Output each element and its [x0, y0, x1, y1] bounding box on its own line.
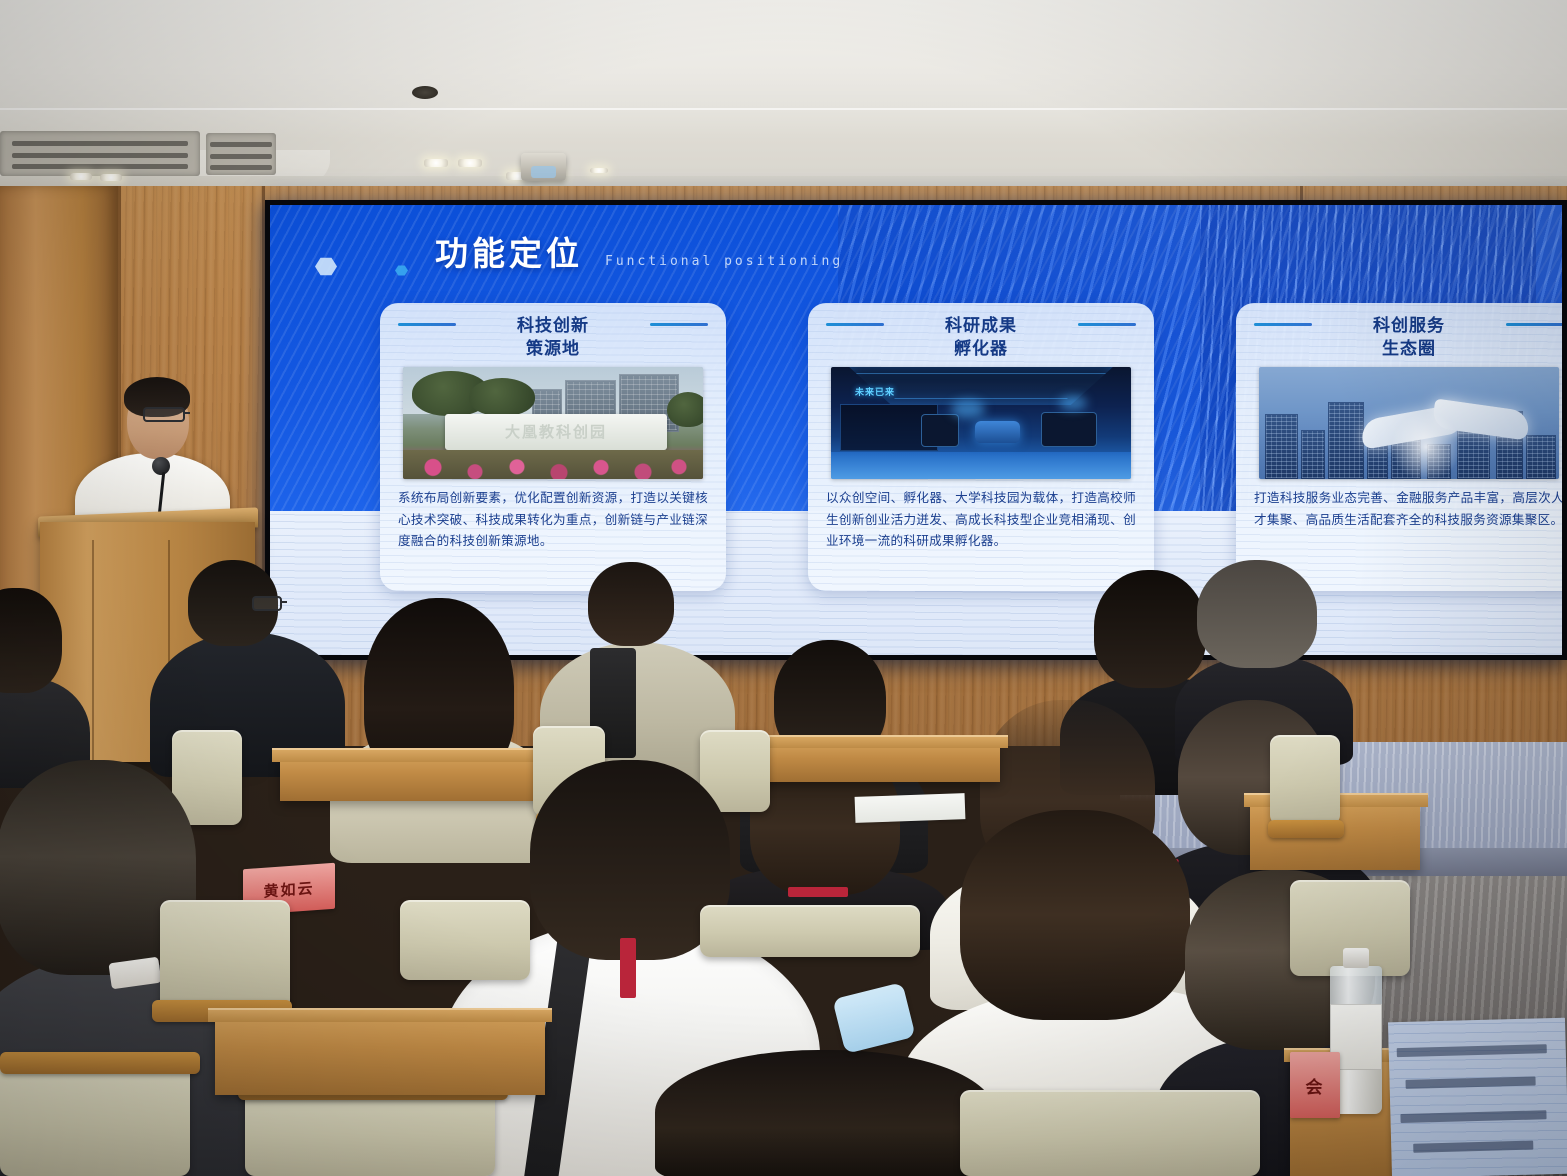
ceiling-downlight-icon: [70, 173, 92, 180]
slide-card: 科技创新 策源地 大凰教科创园 系统布局创新要素，优化配置创新资源，打造以关键核…: [380, 303, 726, 591]
card-body-text: 打造科技服务业态完善、金融服务产品丰富，高层次人才集聚、高品质生活配套齐全的科技…: [1254, 488, 1562, 531]
card-title-line2: 孵化器: [808, 338, 1154, 361]
ceiling-downlight-icon: [424, 159, 448, 167]
ceiling-downlight-icon: [100, 174, 122, 181]
card-title-line2: 生态圈: [1236, 338, 1562, 361]
ceiling-projector-icon: [521, 153, 566, 181]
card-title: 科研成果 孵化器: [808, 303, 1154, 361]
audience-desk-top: [732, 735, 1008, 748]
audience-hair: [1197, 560, 1317, 668]
bottle-cap: [1343, 948, 1369, 968]
lanyard: [620, 938, 636, 998]
audience-hair: [655, 1050, 995, 1176]
audience-member: [655, 1050, 995, 1176]
handout-paper: [1388, 1018, 1567, 1176]
name-placard: 会: [1290, 1052, 1340, 1118]
slide-card-row: 科技创新 策源地 大凰教科创园 系统布局创新要素，优化配置创新资源，打造以关键核…: [270, 303, 1562, 603]
card-title-line1: 科技创新: [380, 315, 726, 338]
card-body-text: 系统布局创新要素，优化配置创新资源，打造以关键核心技术突破、科技成果转化为重点，…: [398, 488, 708, 553]
slide-card: 科研成果 孵化器 未来已来 以众创空间、孵化器、大学科技园为载体，打造高校师生创…: [808, 303, 1154, 591]
title-rule-right-icon: [1078, 323, 1136, 326]
audience-desk-top: [208, 1008, 552, 1022]
ceiling-downlight-icon: [590, 168, 608, 173]
audience-seat: [400, 900, 530, 980]
seat-armrest: [0, 1052, 200, 1074]
audience-hair: [0, 588, 62, 693]
slide-card: 科创服务 生态圈: [1236, 303, 1562, 591]
title-rule-left-icon: [1254, 323, 1312, 326]
card-title-line1: 科创服务: [1236, 315, 1562, 338]
card-title-line2: 策源地: [380, 338, 726, 361]
card-photo-caption: 未来已来: [855, 387, 895, 398]
slide-title: 功能定位 Functional positioning: [435, 227, 843, 275]
card-photo-caption: 大凰教科创园: [445, 414, 667, 450]
audience-member: [0, 588, 90, 778]
audience-desk: [215, 1015, 545, 1095]
card-title: 科技创新 策源地: [380, 303, 726, 361]
podium-seam: [92, 540, 94, 762]
presenter-glasses-icon: [143, 407, 185, 422]
audience-seat: [0, 1060, 190, 1176]
title-rule-left-icon: [826, 323, 884, 326]
title-rule-left-icon: [398, 323, 456, 326]
slide-title-cn: 功能定位: [435, 227, 583, 275]
title-rule-right-icon: [650, 323, 708, 326]
title-rule-right-icon: [1506, 323, 1562, 326]
card-title-line1: 科研成果: [808, 315, 1154, 338]
microphone-head-icon: [152, 457, 170, 475]
slide-title-en: Functional positioning: [605, 254, 843, 269]
conference-hall-photo: 功能定位 Functional positioning 科技创新 策源地: [0, 0, 1567, 1176]
projection-screen: 功能定位 Functional positioning 科技创新 策源地: [270, 205, 1562, 655]
ceiling-vent-icon: [0, 131, 200, 176]
audience-seat: [160, 900, 290, 1010]
ceiling-vent-icon: [206, 133, 276, 175]
card-photo: 大凰教科创园: [403, 367, 703, 479]
ceiling-downlight-icon: [458, 159, 482, 167]
card-photo: 未来已来: [831, 367, 1131, 479]
audience-seat: [700, 905, 920, 957]
ceiling-speaker-icon: [412, 86, 438, 99]
card-body-text: 以众创空间、孵化器、大学科技园为载体，打造高校师生创新创业活力迸发、高成长科技型…: [826, 488, 1136, 553]
audience-hair: [588, 562, 674, 646]
audience-seat: [960, 1090, 1260, 1176]
audience-glasses-icon: [252, 596, 282, 611]
ceiling-upper: [0, 0, 1567, 120]
card-photo: [1259, 367, 1559, 479]
card-title: 科创服务 生态圈: [1236, 303, 1562, 361]
